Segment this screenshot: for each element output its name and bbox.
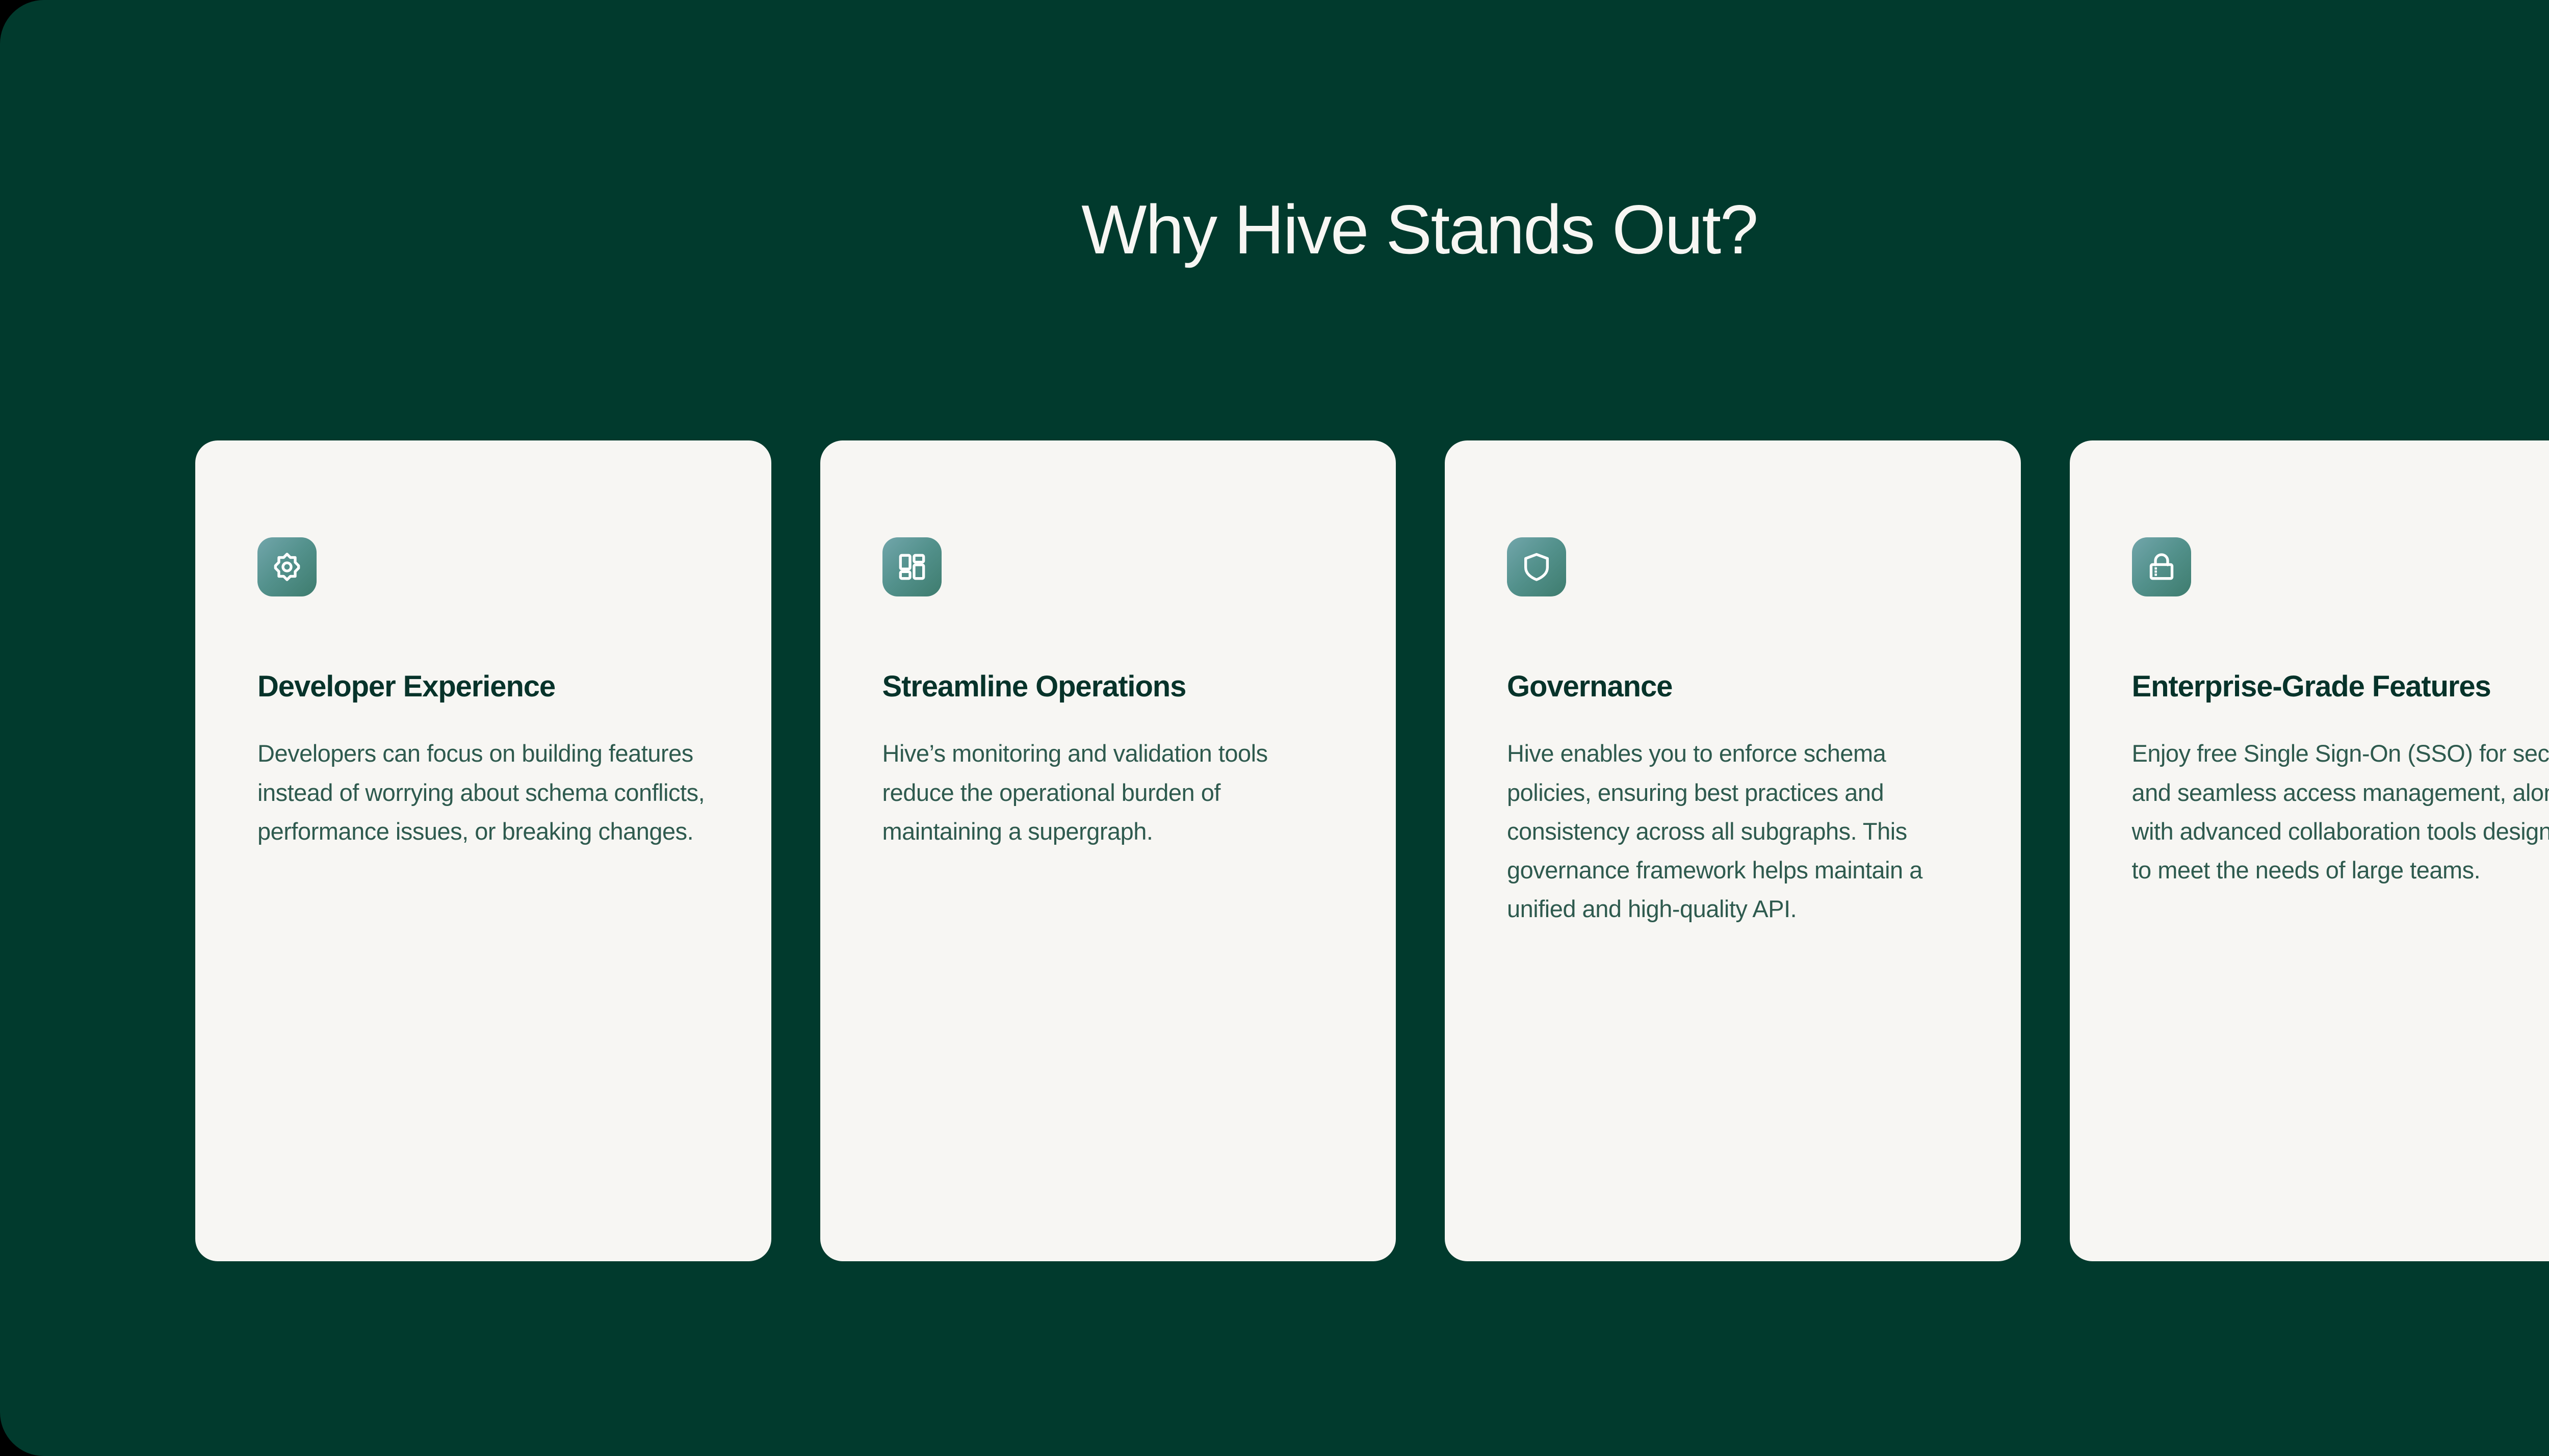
feature-card-body: Hive’s monitoring and validation tools r… bbox=[882, 734, 1334, 850]
icon-tile bbox=[2132, 537, 2191, 596]
shield-icon bbox=[1520, 551, 1553, 583]
icon-tile bbox=[882, 537, 942, 596]
feature-card-body: Hive enables you to enforce schema polic… bbox=[1507, 734, 1959, 928]
feature-card-enterprise-grade-features[interactable]: Enterprise-Grade Features Enjoy free Sin… bbox=[2070, 440, 2549, 1261]
feature-card-developer-experience[interactable]: Developer Experience Developers can focu… bbox=[195, 440, 771, 1261]
lock-keypad-icon bbox=[2145, 551, 2178, 583]
feature-card-title: Streamline Operations bbox=[882, 667, 1186, 706]
feature-card-body: Developers can focus on building feature… bbox=[257, 734, 709, 850]
feature-card-streamline-operations[interactable]: Streamline Operations Hive’s monitoring … bbox=[820, 440, 1396, 1261]
feature-card-title: Developer Experience bbox=[257, 667, 555, 706]
icon-tile bbox=[257, 537, 317, 596]
feature-card-title: Enterprise-Grade Features bbox=[2132, 667, 2491, 706]
icon-tile bbox=[1507, 537, 1566, 596]
feature-card-title: Governance bbox=[1507, 667, 1672, 706]
page-root: Why Hive Stands Out? Developer Experienc… bbox=[0, 0, 2549, 1456]
page-title: Why Hive Stands Out? bbox=[0, 191, 2549, 268]
feature-card-governance[interactable]: Governance Hive enables you to enforce s… bbox=[1445, 440, 2021, 1261]
feature-card-grid: Developer Experience Developers can focu… bbox=[195, 440, 2549, 1261]
brightness-gear-icon bbox=[271, 551, 303, 583]
layout-dashboard-icon bbox=[896, 551, 928, 583]
feature-card-body: Enjoy free Single Sign-On (SSO) for secu… bbox=[2132, 734, 2549, 890]
